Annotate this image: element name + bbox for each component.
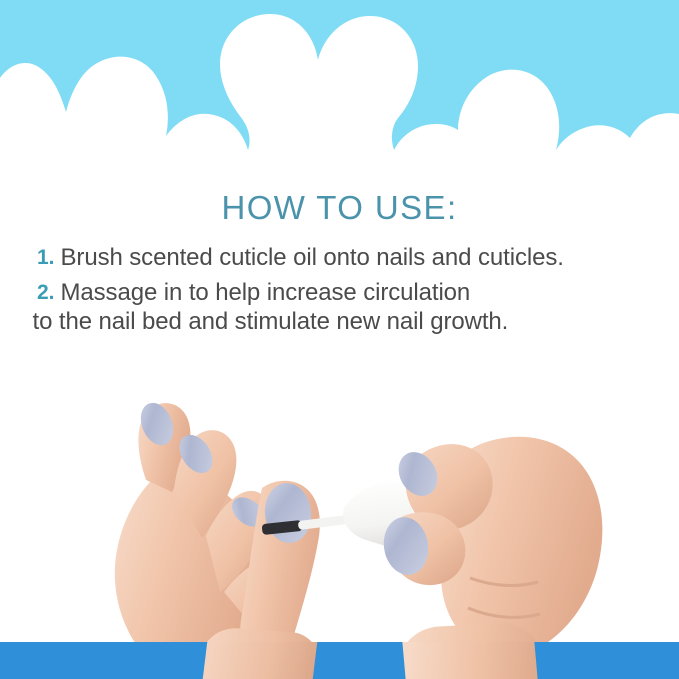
footer-bar [0,642,679,679]
step-line: Brush scented cuticle oil onto nails and… [61,243,564,272]
list-item: 2. Massage in to help increase circulati… [37,278,649,336]
instruction-list: 1. Brush scented cuticle oil onto nails … [37,243,649,342]
hands-applying-cuticle-oil [0,370,679,650]
step-text: Brush scented cuticle oil onto nails and… [61,243,564,272]
step-number: 2. [37,278,61,307]
right-forearm-over-bar [402,642,537,679]
step-line: Massage in to help increase circulation [61,278,509,307]
step-line: to the nail bed and stimulate new nail g… [33,307,509,336]
page-title: HOW TO USE: [0,189,679,227]
step-number: 1. [37,243,61,272]
step-text: Massage in to help increase circulation … [61,278,509,336]
right-hand [380,437,603,650]
left-forearm-over-bar [203,642,318,679]
cloud-banner [0,0,679,180]
list-item: 1. Brush scented cuticle oil onto nails … [37,243,649,272]
how-to-use-poster: HOW TO USE: 1. Brush scented cuticle oil… [0,0,679,679]
